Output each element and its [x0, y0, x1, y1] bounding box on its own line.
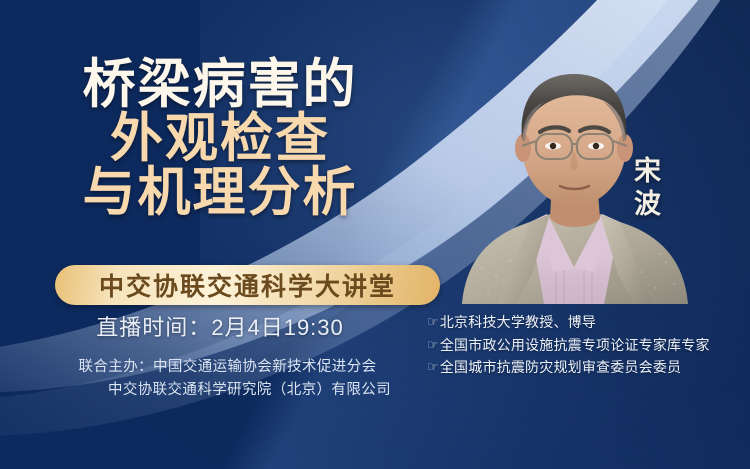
speaker-name-char-1: 宋	[622, 155, 674, 188]
pointing-hand-icon: ☞	[427, 334, 439, 355]
broadcast-time: 直播时间：2月4日19:30	[0, 310, 440, 342]
speaker-name-char-2: 波	[622, 188, 674, 221]
pointing-hand-icon: ☞	[427, 311, 439, 332]
credential-text: 北京科技大学教授、博导	[440, 311, 596, 334]
credential-text: 全国城市抗震防灾规划审查委员会委员	[440, 356, 681, 379]
credential-row: ☞ 北京科技大学教授、博导	[427, 311, 747, 334]
poster-title: 桥梁病害的 外观检查 与机理分析	[0, 58, 440, 220]
organizer-line-1: 联合主办：中国交通运输协会新技术促进分会	[79, 359, 377, 375]
credential-row: ☞ 全国市政公用设施抗震专项论证专家库专家	[427, 334, 747, 357]
webinar-poster: 桥梁病害的 外观检查 与机理分析 中交协联交通科学大讲堂 直播时间：2月4日19…	[0, 0, 750, 469]
organizers-block: 联合主办：中国交通运输协会新技术促进分会 中交协联交通科学研究院（北京）有限公司	[0, 356, 455, 403]
left-content-column: 桥梁病害的 外观检查 与机理分析 中交协联交通科学大讲堂 直播时间：2月4日19…	[0, 0, 455, 469]
title-line-1: 桥梁病害的	[0, 58, 440, 112]
series-banner: 中交协联交通科学大讲堂	[55, 265, 440, 305]
pointing-hand-icon: ☞	[427, 356, 439, 377]
speaker-credentials: ☞ 北京科技大学教授、博导 ☞ 全国市政公用设施抗震专项论证专家库专家 ☞ 全国…	[427, 311, 747, 379]
speaker-name: 宋 波	[622, 155, 674, 221]
organizer-line-2: 中交协联交通科学研究院（北京）有限公司	[0, 379, 455, 402]
credential-text: 全国市政公用设施抗震专项论证专家库专家	[440, 334, 710, 357]
series-banner-label: 中交协联交通科学大讲堂	[99, 267, 396, 303]
credential-row: ☞ 全国城市抗震防灾规划审查委员会委员	[427, 356, 747, 379]
title-line-2: 外观检查	[0, 112, 440, 166]
title-line-3: 与机理分析	[0, 166, 440, 220]
